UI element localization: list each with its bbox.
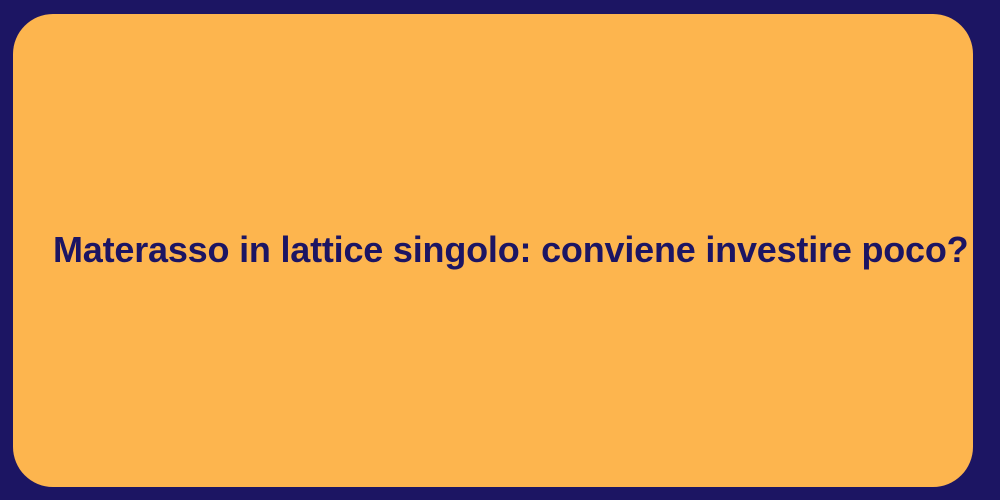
page-title: Materasso in lattice singolo: conviene i… bbox=[13, 228, 973, 272]
outer-frame: Materasso in lattice singolo: conviene i… bbox=[0, 0, 1000, 500]
content-card: Materasso in lattice singolo: conviene i… bbox=[13, 14, 973, 487]
